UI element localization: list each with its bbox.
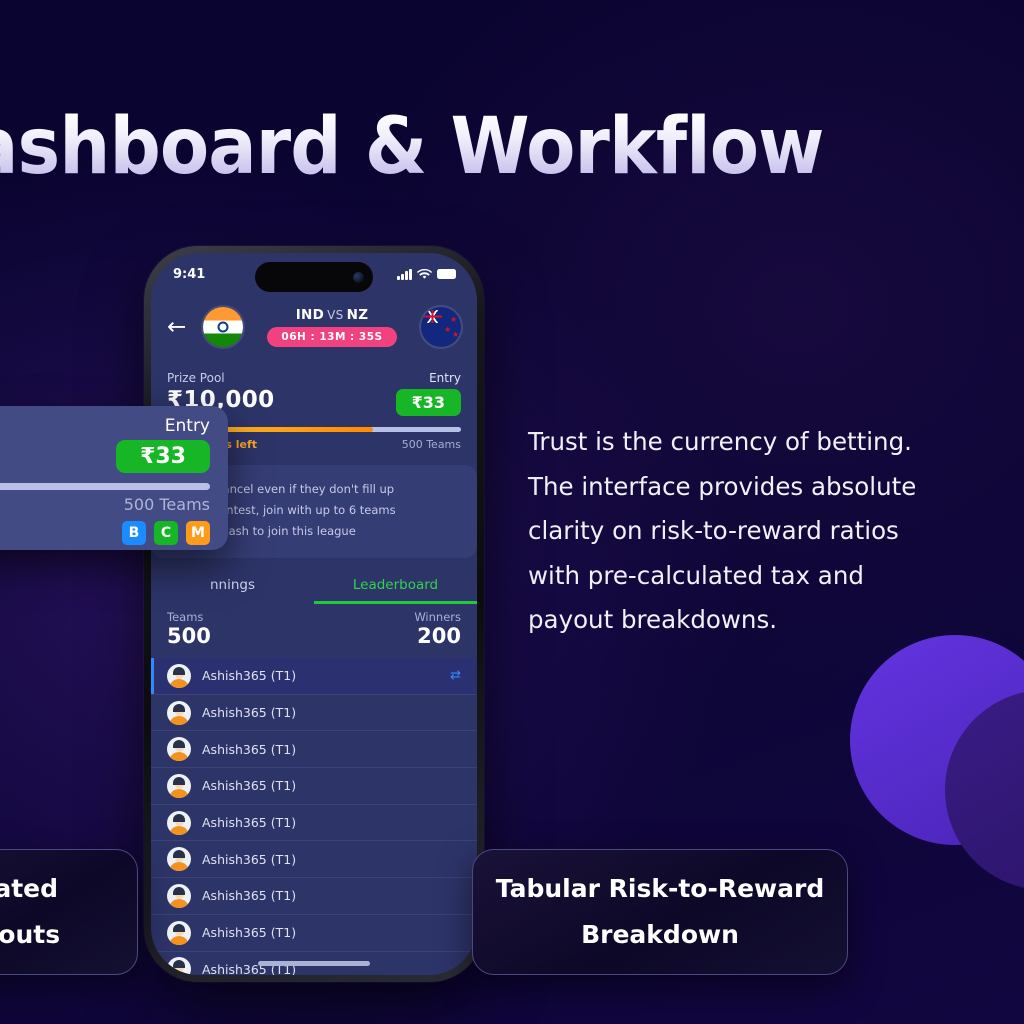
body-copy-line: The interface provides absolute bbox=[528, 465, 958, 510]
stat-label: Teams bbox=[167, 610, 211, 624]
leaderboard-list[interactable]: Ashish365 (T1)⇄Ashish365 (T1)Ashish365 (… bbox=[151, 658, 477, 975]
leaderboard-player-name: Ashish365 (T1) bbox=[202, 705, 461, 720]
match-header: ← INDVSNZ 06H : 13M : 35S ★ ★ ★ bbox=[151, 295, 477, 359]
body-copy-line: with pre-calculated tax and bbox=[528, 554, 958, 599]
avatar bbox=[167, 884, 191, 908]
page-title: ashboard & Workflow bbox=[0, 102, 824, 192]
stat-value: 500 bbox=[167, 624, 211, 648]
battery-icon bbox=[437, 269, 456, 279]
match-teams: INDVSNZ bbox=[296, 307, 369, 323]
leaderboard-player-name: Ashish365 (T1) bbox=[202, 742, 461, 757]
leaderboard-row[interactable]: Ashish365 (T1) bbox=[151, 915, 477, 952]
leaderboard-player-name: Ashish365 (T1) bbox=[202, 815, 461, 830]
wifi-icon bbox=[417, 269, 432, 280]
prize-pool-label: Prize Pool bbox=[167, 371, 275, 385]
leaderboard-player-name: Ashish365 (T1) bbox=[202, 778, 461, 793]
body-copy: Trust is the currency of betting. The in… bbox=[528, 420, 958, 643]
stat-label: Winners bbox=[414, 610, 461, 624]
tab-winnings[interactable]: nnings bbox=[151, 564, 314, 604]
entry-fee-button[interactable]: ₹33 bbox=[396, 389, 461, 416]
leaderboard-row[interactable]: Ashish365 (T1) bbox=[151, 768, 477, 805]
phone-mockup: 9:41 ← INDVSNZ 06H : 13M : 35S bbox=[144, 246, 484, 982]
contest-stats-row: Teams 500 Winners 200 bbox=[151, 604, 477, 658]
stat-winners: Winners 200 bbox=[414, 610, 461, 648]
leaderboard-row[interactable]: Ashish365 (T1) bbox=[151, 731, 477, 768]
magnified-progress-bar bbox=[0, 483, 210, 490]
magnified-teams-total: 500 Teams bbox=[0, 495, 210, 514]
badge-c[interactable]: C bbox=[154, 521, 178, 545]
match-timer: 06H : 13M : 35S bbox=[267, 327, 396, 347]
avatar bbox=[167, 774, 191, 798]
caption-tabular-risk-to-reward: Tabular Risk-to-Reward Breakdown bbox=[472, 849, 848, 975]
badge-m[interactable]: M bbox=[186, 521, 210, 545]
body-copy-line: clarity on risk-to-reward ratios bbox=[528, 509, 958, 554]
team-away: NZ bbox=[347, 307, 369, 323]
avatar bbox=[167, 847, 191, 871]
phone-screen: 9:41 ← INDVSNZ 06H : 13M : 35S bbox=[151, 253, 477, 975]
leaderboard-row[interactable]: Ashish365 (T1) bbox=[151, 878, 477, 915]
caption-left-line2: ayouts bbox=[0, 912, 60, 958]
magnified-badges: B C M bbox=[0, 521, 210, 545]
avatar bbox=[167, 701, 191, 725]
match-info: INDVSNZ 06H : 13M : 35S bbox=[253, 307, 411, 347]
leaderboard-row[interactable]: Ashish365 (T1)⇄ bbox=[151, 658, 477, 695]
status-time: 9:41 bbox=[173, 267, 205, 282]
entry-label: Entry bbox=[429, 371, 461, 385]
back-arrow-icon[interactable]: ← bbox=[167, 316, 193, 339]
swap-icon[interactable]: ⇄ bbox=[450, 668, 461, 683]
new-zealand-flag-icon: ★ ★ ★ bbox=[421, 307, 461, 347]
leaderboard-row[interactable]: Ashish365 (T1) bbox=[151, 805, 477, 842]
leaderboard-player-name: Ashish365 (T1) bbox=[202, 852, 461, 867]
leaderboard-player-name: Ashish365 (T1) bbox=[202, 925, 461, 940]
avatar bbox=[167, 811, 191, 835]
avatar bbox=[167, 737, 191, 761]
leaderboard-row[interactable]: Ashish365 (T1) bbox=[151, 841, 477, 878]
body-copy-line: payout breakdowns. bbox=[528, 598, 958, 643]
badge-b[interactable]: B bbox=[122, 521, 146, 545]
home-indicator bbox=[258, 961, 370, 966]
body-copy-line: Trust is the currency of betting. bbox=[528, 420, 958, 465]
caption-right-line1: Tabular Risk-to-Reward bbox=[496, 866, 824, 912]
signal-bars-icon bbox=[397, 269, 412, 280]
stat-teams: Teams 500 bbox=[167, 610, 211, 648]
leaderboard-player-name: Ashish365 (T1) bbox=[202, 888, 461, 903]
leaderboard-player-name: Ashish365 (T1) bbox=[202, 668, 439, 683]
leaderboard-row[interactable]: Ashish365 (T1) bbox=[151, 695, 477, 732]
avatar bbox=[167, 921, 191, 945]
india-flag-icon bbox=[203, 307, 243, 347]
avatar bbox=[167, 664, 191, 688]
magnified-entry-fee-button[interactable]: ₹33 bbox=[116, 440, 210, 473]
vs-label: VS bbox=[327, 308, 343, 322]
stat-value: 200 bbox=[417, 624, 461, 648]
caption-left-line1: ulated bbox=[0, 866, 60, 912]
magnified-entry-card: Entry ₹33 500 Teams B C M bbox=[0, 406, 228, 550]
caption-pre-calculated-payouts: ulated ayouts bbox=[0, 849, 138, 975]
avatar bbox=[167, 957, 191, 975]
tab-leaderboard[interactable]: Leaderboard bbox=[314, 564, 477, 604]
status-icons bbox=[397, 269, 456, 280]
dynamic-island bbox=[255, 262, 373, 292]
magnified-entry-label: Entry bbox=[165, 416, 210, 436]
contest-tabs: nnings Leaderboard bbox=[151, 564, 477, 604]
front-camera-icon bbox=[353, 272, 364, 283]
caption-right-line2: Breakdown bbox=[496, 912, 824, 958]
team-home: IND bbox=[296, 307, 324, 323]
teams-total-label: 500 Teams bbox=[402, 438, 461, 451]
